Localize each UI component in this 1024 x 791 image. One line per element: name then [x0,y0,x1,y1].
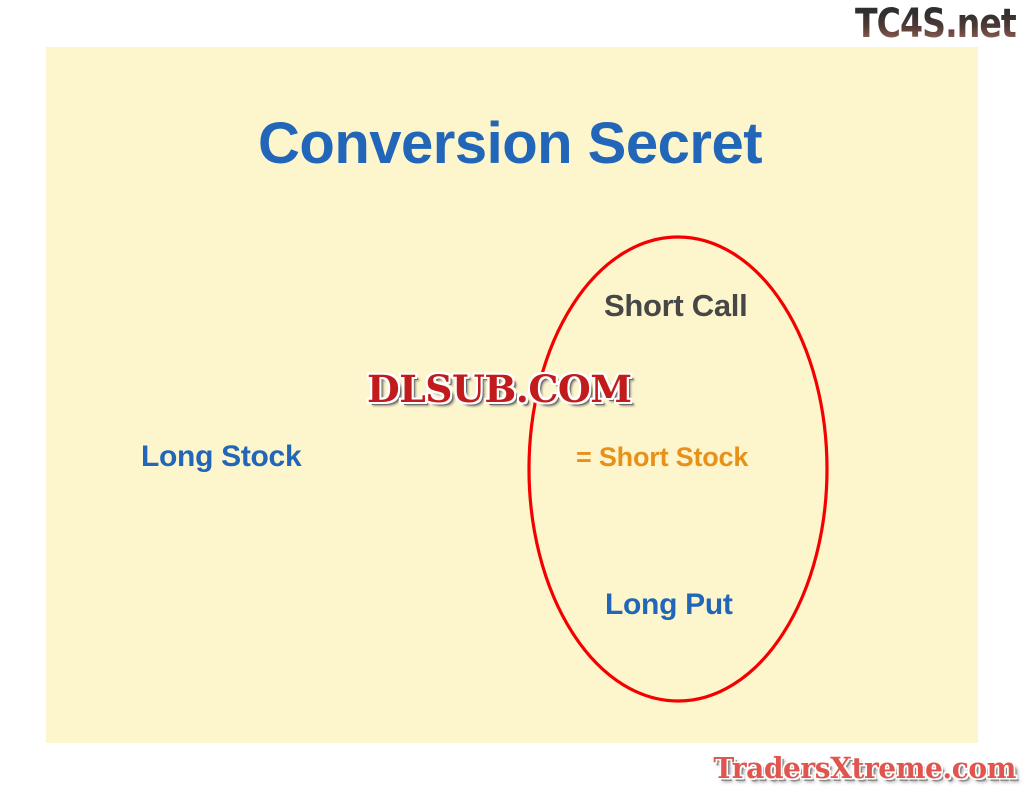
label-long-put: Long Put [605,588,733,622]
label-long-stock: Long Stock [141,440,301,474]
label-short-stock: = Short Stock [576,442,748,473]
label-short-call: Short Call [604,288,747,324]
brand-logo-footer: TradersXtreme.com [713,751,1016,785]
brand-logo-top: TC4S.net [855,2,1016,46]
watermark-dlsub: DLSUB.COM [367,367,632,411]
page-title: Conversion Secret [258,110,762,177]
